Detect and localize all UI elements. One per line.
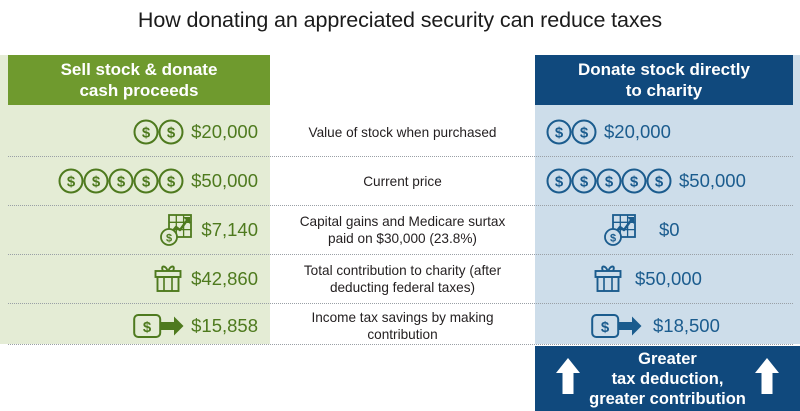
table-row: $ $15,858 Income tax savings by making c… [0, 304, 800, 348]
right-row-value: $18,500 [653, 315, 720, 337]
left-column-header-label: Sell stock & donate cash proceeds [61, 59, 218, 101]
svg-text:$: $ [167, 174, 176, 191]
table-row: $ $7,140 Capital gains and Medicare surt… [0, 206, 800, 254]
table-row: $ $ $ $ $ $50,000 Current price $ $ $ $ … [0, 157, 800, 205]
dollar-transfer-arrow-icon: $ [133, 311, 185, 341]
row-label: Value of stock when purchased [309, 124, 497, 141]
row-label-cell: Current price [270, 157, 535, 205]
svg-text:$: $ [117, 174, 126, 191]
row-left-cell: $ $15,858 [0, 304, 270, 348]
svg-text:$: $ [142, 174, 151, 191]
infographic-root: How donating an appreciated security can… [0, 0, 800, 411]
svg-text:$: $ [580, 174, 589, 191]
svg-text:$: $ [601, 319, 610, 336]
table-row: $42,860 Total contribution to charity (a… [0, 255, 800, 303]
row-separator [8, 344, 793, 345]
coin-dollar-icon-group: $ $ [132, 118, 185, 146]
row-label: Total contribution to charity (after ded… [304, 262, 501, 296]
svg-text:$: $ [67, 174, 76, 191]
row-left-cell: $ $7,140 [0, 206, 270, 254]
svg-text:$: $ [167, 125, 176, 142]
growth-chart-dollar-icon: $ [157, 211, 195, 249]
row-label: Capital gains and Medicare surtax paid o… [300, 213, 506, 247]
coin-dollar-icon-group: $ $ $ $ $ [57, 167, 185, 195]
row-label-cell: Value of stock when purchased [270, 108, 535, 156]
svg-text:$: $ [580, 125, 589, 142]
right-row-value: $20,000 [604, 121, 671, 143]
left-row-value: $50,000 [191, 170, 258, 192]
svg-text:$: $ [92, 174, 101, 191]
footer-text: Greater tax deduction, greater contribut… [589, 349, 746, 409]
coin-dollar-icon-group: $ $ [545, 118, 598, 146]
row-label: Income tax savings by making contributio… [311, 309, 493, 343]
growth-chart-dollar-icon: $ [601, 211, 639, 249]
row-right-cell: $ $0 [535, 206, 800, 254]
right-row-value: $0 [659, 219, 680, 241]
right-column-header: Donate stock directly to charity [535, 55, 793, 105]
gift-box-icon [591, 262, 625, 296]
left-row-value: $15,858 [191, 315, 258, 337]
row-left-cell: $ $ $20,000 [0, 108, 270, 156]
svg-text:$: $ [655, 174, 664, 191]
svg-text:$: $ [166, 233, 172, 245]
page-title: How donating an appreciated security can… [0, 8, 800, 33]
up-arrow-icon [754, 356, 780, 401]
row-label-cell: Income tax savings by making contributio… [270, 304, 535, 348]
up-arrow-icon [555, 356, 581, 401]
left-row-value: $20,000 [191, 121, 258, 143]
svg-text:$: $ [555, 125, 564, 142]
table-row: $ $ $20,000 Value of stock when purchase… [0, 108, 800, 156]
left-row-value: $7,140 [201, 219, 258, 241]
svg-text:$: $ [605, 174, 614, 191]
row-left-cell: $ $ $ $ $ $50,000 [0, 157, 270, 205]
right-row-value: $50,000 [679, 170, 746, 192]
gift-box-icon [151, 262, 185, 296]
svg-text:$: $ [630, 174, 639, 191]
coin-dollar-icon-group: $ $ $ $ $ [545, 167, 673, 195]
dollar-transfer-arrow-icon: $ [591, 311, 643, 341]
row-left-cell: $42,860 [0, 255, 270, 303]
row-right-cell: $50,000 [535, 255, 800, 303]
svg-text:$: $ [142, 125, 151, 142]
left-row-value: $42,860 [191, 268, 258, 290]
svg-text:$: $ [610, 233, 616, 245]
svg-text:$: $ [555, 174, 564, 191]
footer-callout: Greater tax deduction, greater contribut… [535, 346, 800, 411]
row-label-cell: Capital gains and Medicare surtax paid o… [270, 206, 535, 254]
right-row-value: $50,000 [635, 268, 702, 290]
row-right-cell: $ $ $ $ $ $50,000 [535, 157, 800, 205]
svg-text:$: $ [143, 319, 152, 336]
row-right-cell: $ $18,500 [535, 304, 800, 348]
row-label-cell: Total contribution to charity (after ded… [270, 255, 535, 303]
row-label: Current price [363, 173, 442, 190]
left-column-header: Sell stock & donate cash proceeds [8, 55, 270, 105]
row-right-cell: $ $ $20,000 [535, 108, 800, 156]
right-column-header-label: Donate stock directly to charity [578, 59, 750, 101]
